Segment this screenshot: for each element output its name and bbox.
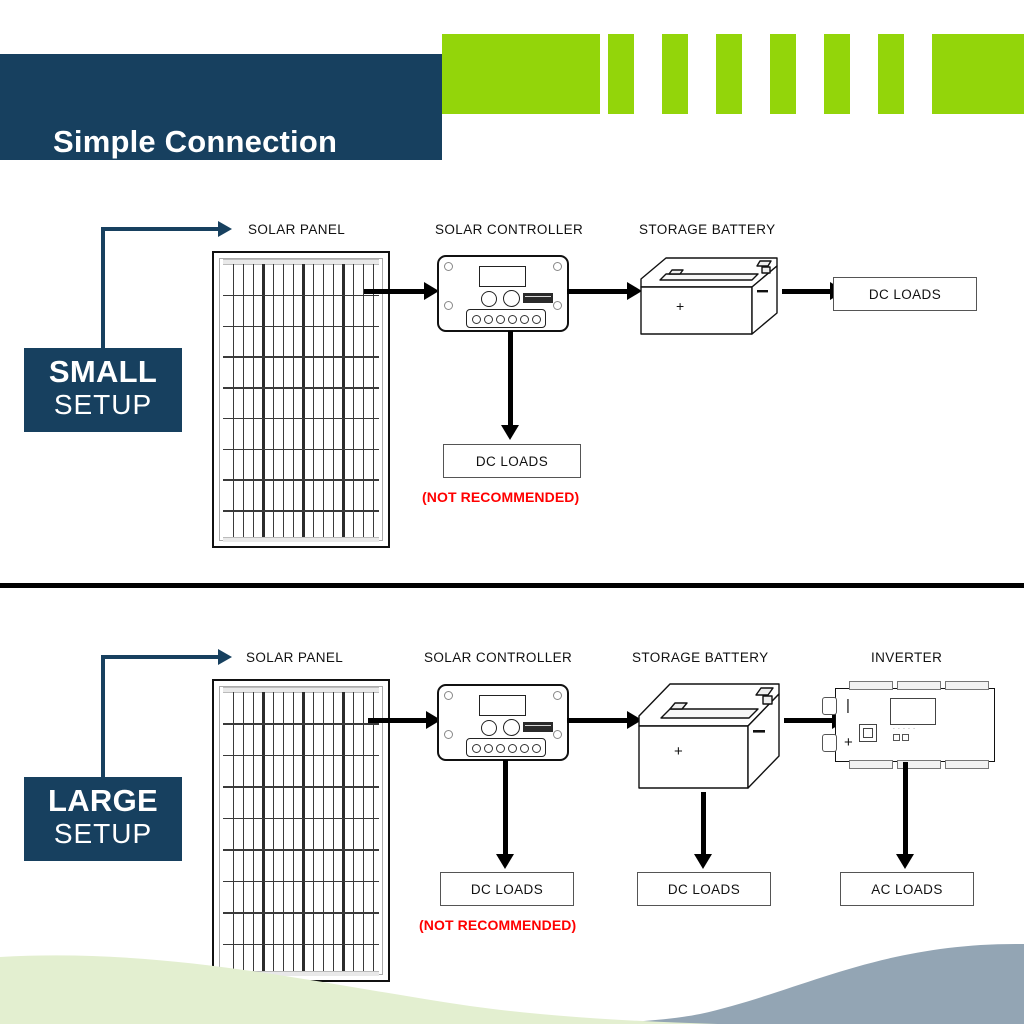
page-title-card: Simple Connection Diagram	[0, 54, 442, 160]
panel-cell-line-vertical	[293, 264, 294, 537]
small-setup-badge-line1: SMALL	[24, 356, 182, 389]
panel-cell-line-horizontal	[223, 326, 379, 328]
inverter-large: | + - - - - -	[835, 688, 995, 762]
label-solar-panel-small: SOLAR PANEL	[248, 222, 345, 237]
dc-loads-box-controller-small[interactable]: DC LOADS	[443, 444, 581, 478]
controller-button-2[interactable]	[503, 290, 520, 307]
controller-port-1	[472, 315, 481, 324]
battery-negative-terminal	[757, 290, 768, 292]
inverter-vent-bottom-1	[849, 760, 893, 769]
wire-controller-to-dcloads-small	[508, 331, 513, 427]
wire-battery-to-dcloads-large	[701, 792, 706, 856]
controller-screw-tr	[553, 691, 562, 700]
controller-terminal-bar	[466, 738, 546, 757]
header-green-segment-2	[608, 34, 634, 114]
controller-port-5	[520, 744, 529, 753]
inverter-scale-marks: - - - - -	[893, 726, 916, 732]
panel-cell-line-vertical	[353, 264, 354, 537]
inverter-led-1	[893, 734, 900, 741]
panel-cell-line-horizontal	[223, 818, 379, 820]
dc-loads-box-controller-large[interactable]: DC LOADS	[440, 872, 574, 906]
header-green-segment-6	[824, 34, 850, 114]
label-solar-controller-large: SOLAR CONTROLLER	[424, 650, 572, 665]
wire-panel-to-controller-small	[364, 289, 426, 294]
controller-port-3	[496, 744, 505, 753]
panel-cell-line-horizontal	[223, 356, 379, 358]
inverter-terminal-top-sign: |	[846, 698, 850, 713]
ac-loads-box-inverter-large[interactable]: AC LOADS	[840, 872, 974, 906]
controller-button-2[interactable]	[503, 719, 520, 736]
panel-cell-line-horizontal	[223, 295, 379, 297]
label-storage-battery-small: STORAGE BATTERY	[639, 222, 776, 237]
inverter-vent-top-2	[897, 681, 941, 690]
header-green-segment-8	[932, 34, 1024, 114]
large-setup-badge-line1: LARGE	[24, 785, 182, 818]
panel-cell-line-horizontal	[223, 755, 379, 757]
controller-port-4	[508, 315, 517, 324]
not-recommended-note-small: (NOT RECOMMENDED)	[422, 489, 579, 505]
panel-bottom-rail	[223, 537, 379, 542]
panel-cell-line-vertical	[253, 264, 254, 537]
dc-loads-box-battery-large[interactable]: DC LOADS	[637, 872, 771, 906]
panel-cell-line-horizontal	[223, 510, 379, 512]
storage-battery-large: +	[634, 676, 784, 792]
panel-cell-line-horizontal	[223, 723, 379, 725]
pointer-horizontal	[101, 227, 220, 231]
panel-busbar-vertical	[262, 264, 265, 537]
solar-controller-large	[437, 684, 569, 761]
panel-busbar-vertical	[302, 264, 305, 537]
controller-terminal-bar	[466, 309, 546, 328]
panel-cell-line-horizontal	[223, 849, 379, 851]
wire-controller-to-battery-small	[567, 289, 629, 294]
panel-cell-line-horizontal	[223, 449, 379, 451]
header-green-segment-4	[716, 34, 742, 114]
controller-port-1	[472, 744, 481, 753]
panel-busbar-vertical	[342, 264, 345, 537]
panel-cell-line-vertical	[323, 264, 324, 537]
inverter-terminal-top	[822, 697, 837, 715]
inverter-status-leds	[893, 734, 909, 741]
label-storage-battery-large: STORAGE BATTERY	[632, 650, 769, 665]
panel-cell-line-vertical	[243, 264, 244, 537]
solar-panel-small	[212, 251, 390, 548]
pointer-vertical	[101, 227, 105, 350]
inverter-vent-top-3	[945, 681, 989, 690]
wire-controller-to-dcloads-large	[503, 760, 508, 856]
battery-positive-terminal: +	[674, 743, 683, 760]
inverter-led-2	[902, 734, 909, 741]
battery-illustration: +	[634, 676, 784, 792]
label-solar-panel-large: SOLAR PANEL	[246, 650, 343, 665]
panel-cell-grid	[223, 264, 379, 537]
label-solar-controller-small: SOLAR CONTROLLER	[435, 222, 583, 237]
large-setup-badge: LARGE SETUP	[24, 777, 182, 861]
small-setup-badge-line2: SETUP	[24, 389, 182, 420]
panel-cell-line-vertical	[333, 264, 334, 537]
wire-inverter-to-acloads-large	[903, 762, 908, 856]
controller-port-2	[484, 744, 493, 753]
controller-screw-tl	[444, 262, 453, 271]
controller-screw-bl	[444, 301, 453, 310]
storage-battery-small: +	[636, 249, 782, 339]
dc-loads-box-battery-small[interactable]: DC LOADS	[833, 277, 977, 311]
controller-brand-logo	[523, 722, 553, 732]
decorative-waves	[0, 914, 1024, 1024]
battery-positive-terminal: +	[676, 298, 684, 314]
panel-cell-line-horizontal	[223, 479, 379, 481]
panel-cell-line-horizontal	[223, 387, 379, 389]
wire-battery-to-dcloads-small	[782, 289, 832, 294]
inverter-vent-top-1	[849, 681, 893, 690]
wave-illustration	[0, 914, 1024, 1024]
panel-cell-line-horizontal	[223, 786, 379, 788]
panel-cell-line-vertical	[233, 264, 234, 537]
header-green-segment-5	[770, 34, 796, 114]
inverter-vent-bottom-3	[945, 760, 989, 769]
controller-button-1[interactable]	[481, 720, 497, 736]
panel-cell-line-vertical	[283, 264, 284, 537]
wire-battery-to-inverter-large	[784, 718, 834, 723]
arrow-head-icon	[218, 649, 232, 665]
controller-screw-tl	[444, 691, 453, 700]
controller-button-1[interactable]	[481, 291, 497, 307]
pointer-vertical	[101, 655, 105, 779]
controller-screw-tr	[553, 262, 562, 271]
arrow-head-icon	[218, 221, 232, 237]
wire-panel-to-controller-large	[368, 718, 428, 723]
controller-port-3	[496, 315, 505, 324]
wire-controller-to-battery-large	[567, 718, 629, 723]
controller-screw-bl	[444, 730, 453, 739]
page-title: Simple Connection Diagram	[53, 120, 433, 210]
panel-cell-line-vertical	[363, 264, 364, 537]
battery-negative-terminal	[753, 730, 765, 733]
inverter-terminal-bottom-sign: +	[844, 735, 853, 750]
controller-screw-br	[553, 730, 562, 739]
large-setup-badge-line2: SETUP	[24, 818, 182, 849]
controller-screw-br	[553, 301, 562, 310]
header-green-segment-3	[662, 34, 688, 114]
controller-port-6	[532, 315, 541, 324]
controller-brand-logo	[523, 293, 553, 303]
small-setup-badge: SMALL SETUP	[24, 348, 182, 432]
panel-cell-line-vertical	[273, 264, 274, 537]
controller-port-2	[484, 315, 493, 324]
header-green-segment-1	[442, 34, 600, 114]
solar-controller-small	[437, 255, 569, 332]
pointer-horizontal	[101, 655, 220, 659]
controller-display	[479, 266, 526, 287]
controller-port-4	[508, 744, 517, 753]
controller-display	[479, 695, 526, 716]
header-green-segment-7	[878, 34, 904, 114]
label-inverter-large: INVERTER	[871, 650, 942, 665]
battery-illustration: +	[636, 249, 782, 339]
controller-port-5	[520, 315, 529, 324]
panel-cell-line-vertical	[313, 264, 314, 537]
panel-cell-line-vertical	[373, 264, 374, 537]
panel-cell-line-horizontal	[223, 881, 379, 883]
inverter-power-switch[interactable]	[859, 724, 877, 742]
controller-port-6	[532, 744, 541, 753]
section-divider	[0, 583, 1024, 588]
inverter-terminal-bottom	[822, 734, 837, 752]
panel-cell-line-horizontal	[223, 418, 379, 420]
inverter-display	[890, 698, 936, 725]
